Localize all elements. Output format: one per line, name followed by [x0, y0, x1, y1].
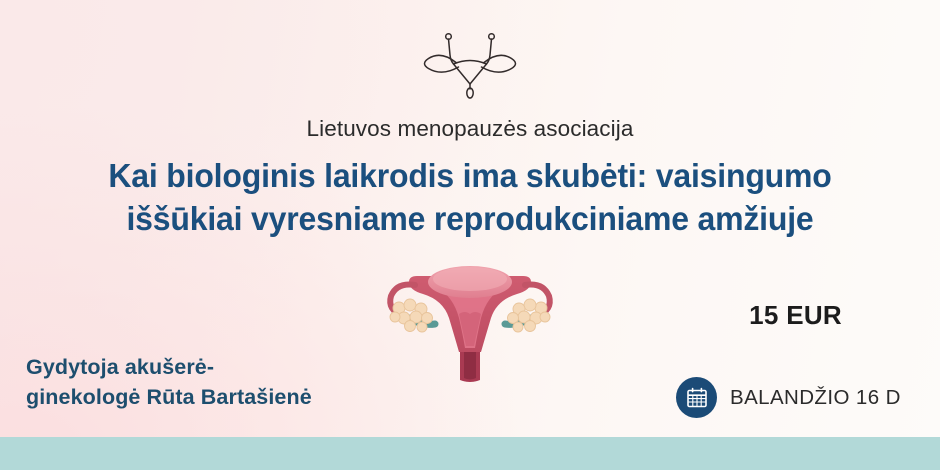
organisation-name: Lietuvos menopauzės asociacija [0, 116, 940, 142]
association-logo [0, 22, 940, 100]
bottom-accent-band [0, 437, 940, 470]
calendar-icon [676, 377, 717, 418]
uterus-crown-logo-icon [415, 22, 525, 100]
speaker-line-2: ginekologė Rūta Bartašienė [26, 382, 312, 412]
speaker-line-1: Gydytoja akušerė- [26, 352, 312, 382]
event-poster: Lietuvos menopauzės asociacija Kai biolo… [0, 0, 940, 470]
event-date: BALANDŽIO 16 D [676, 377, 901, 418]
uterus-illustration-icon [375, 252, 565, 384]
date-label: BALANDŽIO 16 D [730, 386, 901, 410]
title-line-1: Kai biologinis laikrodis ima skubėti: va… [21, 155, 919, 198]
page-title: Kai biologinis laikrodis ima skubėti: va… [21, 155, 919, 241]
title-line-2: iššūkiai vyresniame reprodukciniame amži… [21, 198, 919, 241]
uterus-anatomy-illustration [375, 252, 565, 389]
calendar-glyph-icon [686, 387, 708, 409]
speaker-name: Gydytoja akušerė- ginekologė Rūta Bartaš… [26, 352, 312, 412]
price-label: 15 EUR [749, 300, 842, 331]
